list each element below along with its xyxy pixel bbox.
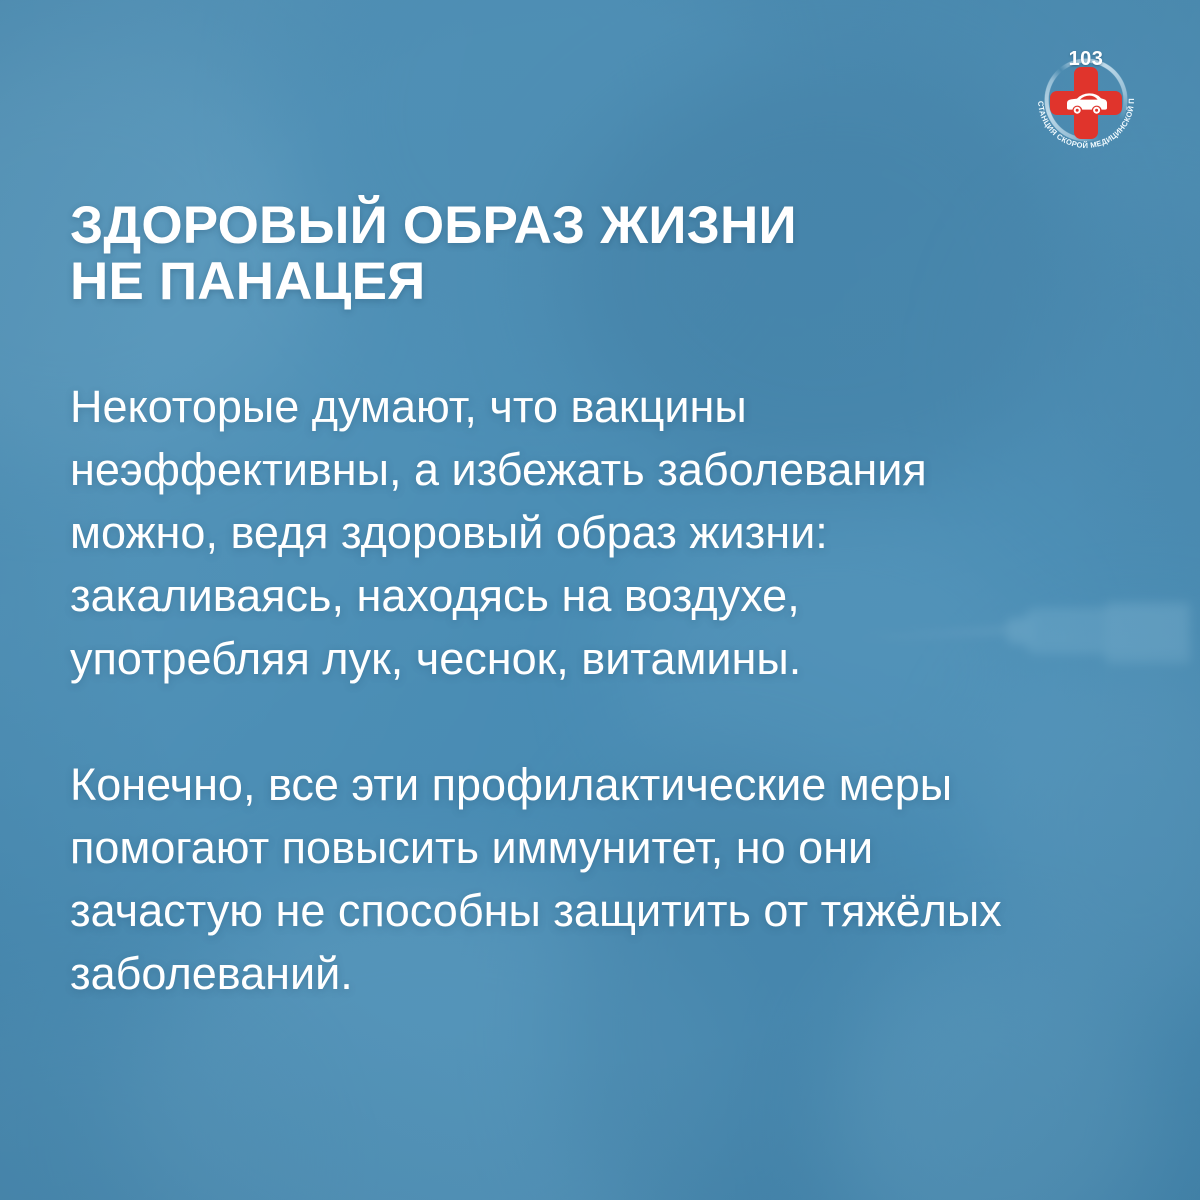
paragraph-1-line-4: закаливаясь, находясь на воздухе,	[70, 564, 1145, 627]
logo[interactable]: ПЕРВАЯ СТАНЦИЯ СКОРОЙ МЕДИЦИНСКОЙ ПОМОЩИ…	[1028, 42, 1144, 158]
title-line-1: ЗДОРОВЫЙ ОБРАЗ ЖИЗНИ	[70, 198, 970, 255]
poster-canvas: ПЕРВАЯ СТАНЦИЯ СКОРОЙ МЕДИЦИНСКОЙ ПОМОЩИ…	[0, 0, 1200, 1200]
title-line-2: НЕ ПАНАЦЕЯ	[70, 254, 970, 311]
ambulance-car-icon	[1063, 90, 1109, 116]
paragraph-1-line-3: можно, ведя здоровый образ жизни:	[70, 501, 1145, 564]
paragraph-2-line-1: Конечно, все эти профилактические меры	[70, 753, 1145, 816]
paragraph-1: Некоторые думают, что вакцины неэффектив…	[70, 375, 1145, 690]
paragraph-2: Конечно, все эти профилактические меры п…	[70, 753, 1145, 1005]
poster-content: ПЕРВАЯ СТАНЦИЯ СКОРОЙ МЕДИЦИНСКОЙ ПОМОЩИ…	[0, 0, 1200, 1200]
body-text: Некоторые думают, что вакцины неэффектив…	[70, 375, 1145, 1005]
paragraph-2-line-4: заболеваний.	[70, 942, 1145, 1005]
paragraph-2-line-2: помогают повысить иммунитет, но они	[70, 816, 1145, 879]
paragraph-1-line-1: Некоторые думают, что вакцины	[70, 375, 1145, 438]
paragraph-1-line-2: неэффективны, а избежать заболевания	[70, 438, 1145, 501]
paragraph-2-line-3: зачастую не способны защитить от тяжёлых	[70, 879, 1145, 942]
page-title: ЗДОРОВЫЙ ОБРАЗ ЖИЗНИ НЕ ПАНАЦЕЯ	[70, 198, 970, 311]
paragraph-1-line-5: употребляя лук, чеснок, витамины.	[70, 627, 1145, 690]
